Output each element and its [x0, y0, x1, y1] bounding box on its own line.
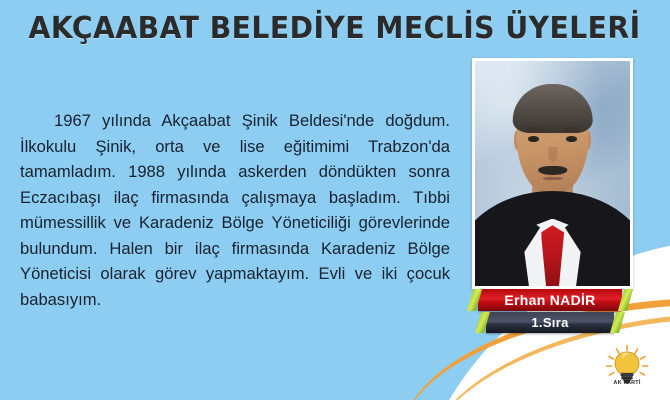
- ak-parti-logo-text: AK PARTİ: [602, 380, 652, 386]
- member-rank-text: 1.Sıra: [531, 315, 568, 330]
- eye-left: [528, 136, 539, 141]
- nose: [548, 147, 557, 163]
- member-name-plate: Erhan NADİR: [478, 289, 622, 311]
- member-photo: [475, 61, 630, 286]
- hair: [512, 84, 593, 134]
- biography-text: 1967 yılında Akçaabat Şinik Beldesi'nde …: [20, 108, 450, 312]
- poster-canvas: AKÇAABAT BELEDİYE MECLİS ÜYELERİ 1967 yı…: [0, 0, 670, 400]
- member-photo-frame: [472, 58, 633, 289]
- page-title: AKÇAABAT BELEDİYE MECLİS ÜYELERİ: [0, 6, 670, 50]
- member-name-text: Erhan NADİR: [504, 292, 595, 308]
- eye-right: [566, 136, 577, 141]
- lightbulb-icon: [602, 344, 652, 394]
- member-rank-plate: 1.Sıra: [486, 312, 614, 333]
- ak-parti-logo: AK PARTİ: [602, 344, 652, 394]
- page-title-text: AKÇAABAT BELEDİYE MECLİS ÜYELERİ: [29, 11, 641, 46]
